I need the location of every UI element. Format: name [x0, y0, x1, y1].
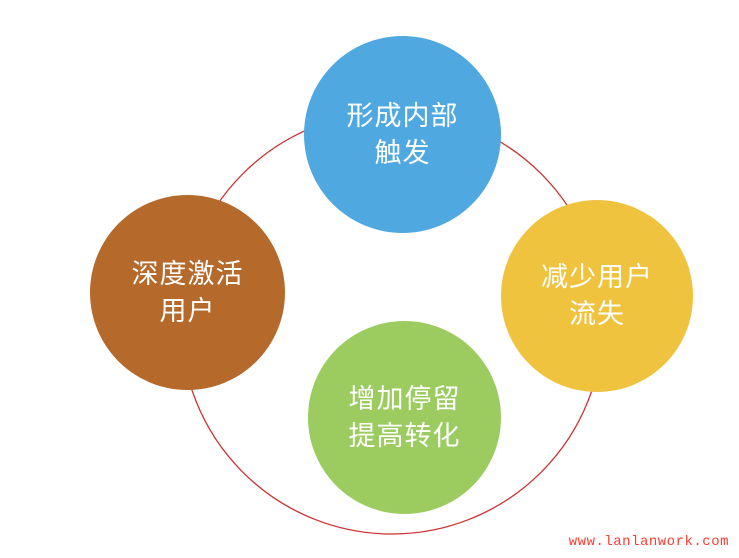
- diagram-canvas: 形成内部 触发 减少用户 流失 增加停留 提高转化 深度激活 用户 www.la…: [0, 0, 739, 558]
- node-bottom-label-line2: 提高转化: [349, 418, 461, 455]
- node-bottom-increase-retention[interactable]: 增加停留 提高转化: [308, 321, 501, 514]
- node-left-deep-activate-users[interactable]: 深度激活 用户: [90, 195, 285, 390]
- node-left-label-line2: 用户: [160, 293, 216, 330]
- watermark: www.lanlanwork.com: [569, 534, 729, 550]
- node-right-label-line1: 减少用户: [541, 259, 653, 296]
- node-top-form-internal-trigger[interactable]: 形成内部 触发: [304, 36, 501, 233]
- node-left-label-line1: 深度激活: [132, 256, 244, 293]
- node-right-reduce-churn[interactable]: 减少用户 流失: [501, 200, 693, 392]
- node-bottom-label-line1: 增加停留: [349, 381, 461, 418]
- node-top-label-line1: 形成内部: [347, 98, 459, 135]
- node-right-label-line2: 流失: [569, 296, 625, 333]
- node-top-label-line2: 触发: [375, 135, 431, 172]
